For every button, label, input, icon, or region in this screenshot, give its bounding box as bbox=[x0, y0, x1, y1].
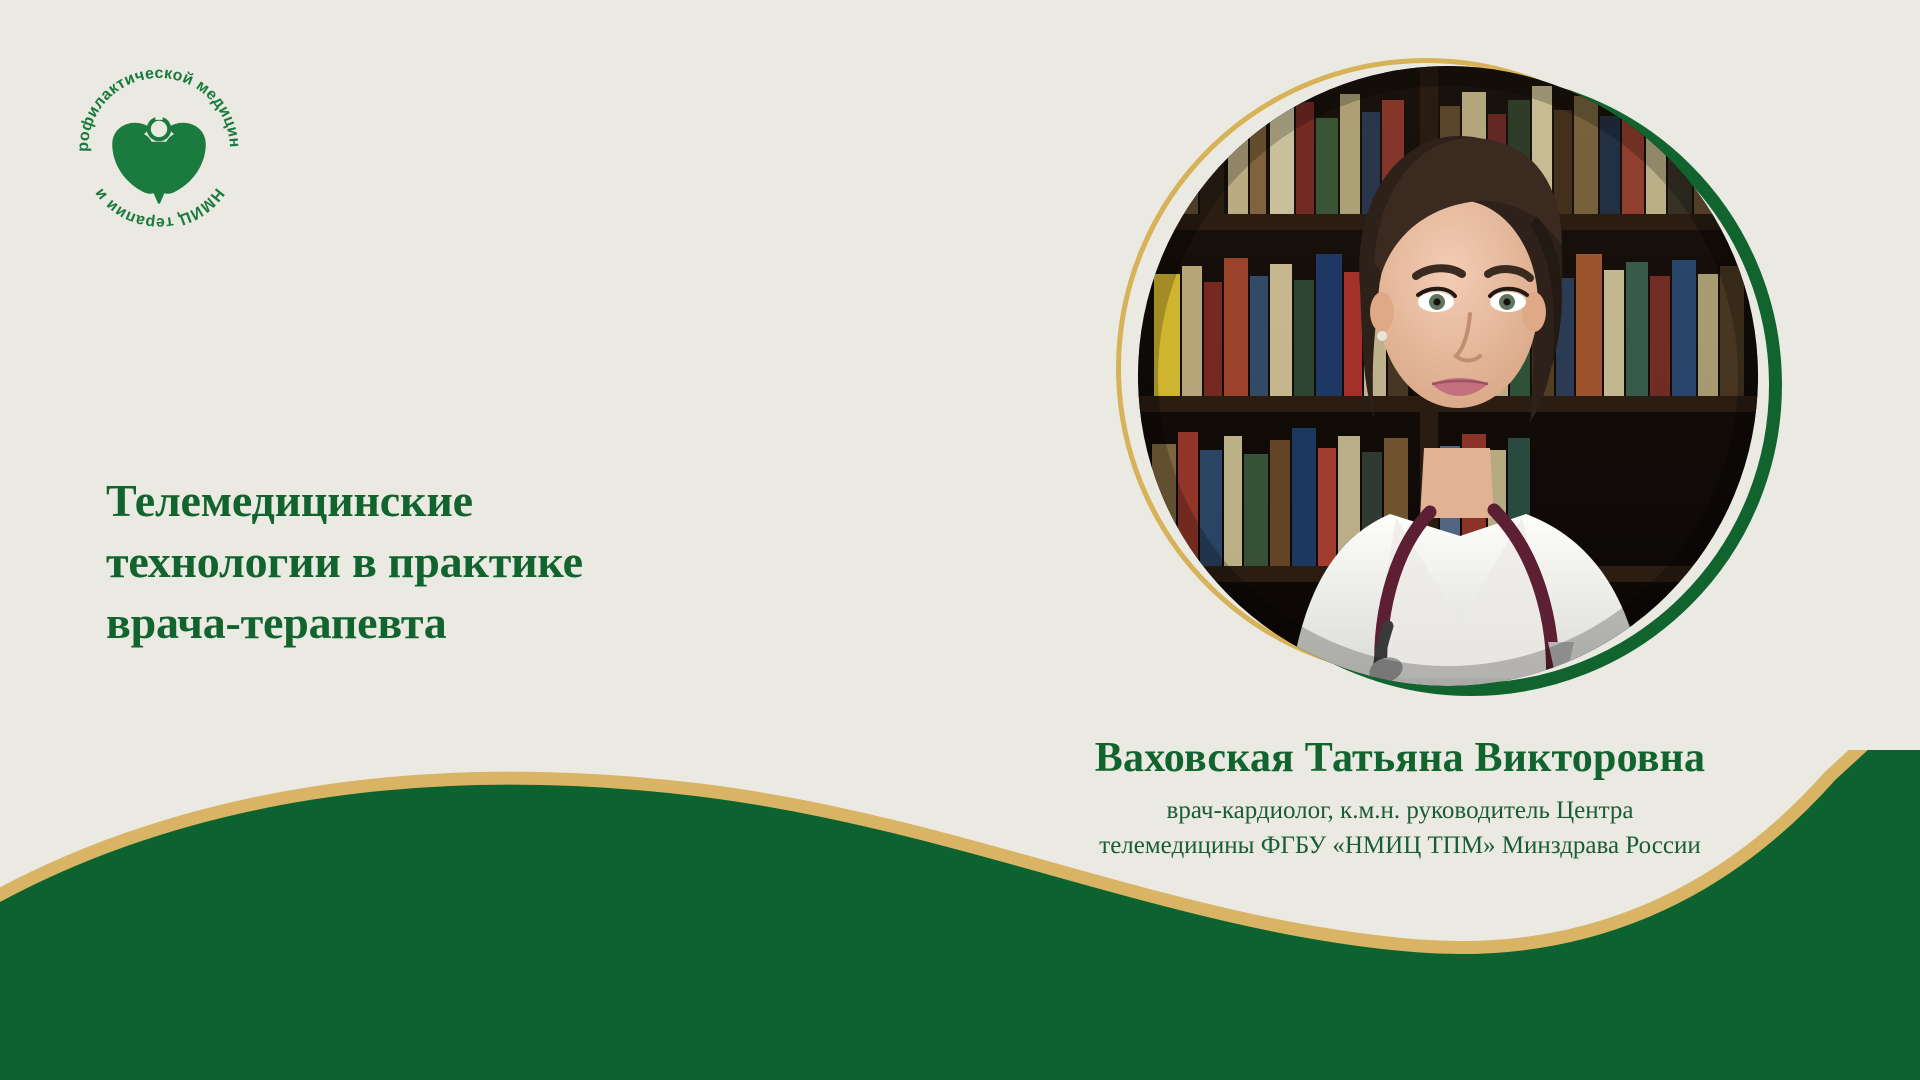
title-line-2: технологии в практике bbox=[106, 531, 806, 592]
heart-person-emblem bbox=[110, 110, 208, 203]
presentation-slide: профилактической медицины НМИЦ терапии и bbox=[0, 0, 1920, 1080]
speaker-portrait bbox=[1138, 66, 1758, 686]
page-title: Телемедицинские технологии в практике вр… bbox=[106, 470, 806, 654]
bottom-wave-decoration bbox=[0, 750, 1920, 1080]
title-line-3: врача-терапевта bbox=[106, 592, 806, 653]
title-line-1: Телемедицинские bbox=[106, 470, 806, 531]
nmic-tpm-logo: профилактической медицины НМИЦ терапии и bbox=[68, 58, 250, 240]
speaker-photo-group bbox=[1058, 40, 1858, 720]
